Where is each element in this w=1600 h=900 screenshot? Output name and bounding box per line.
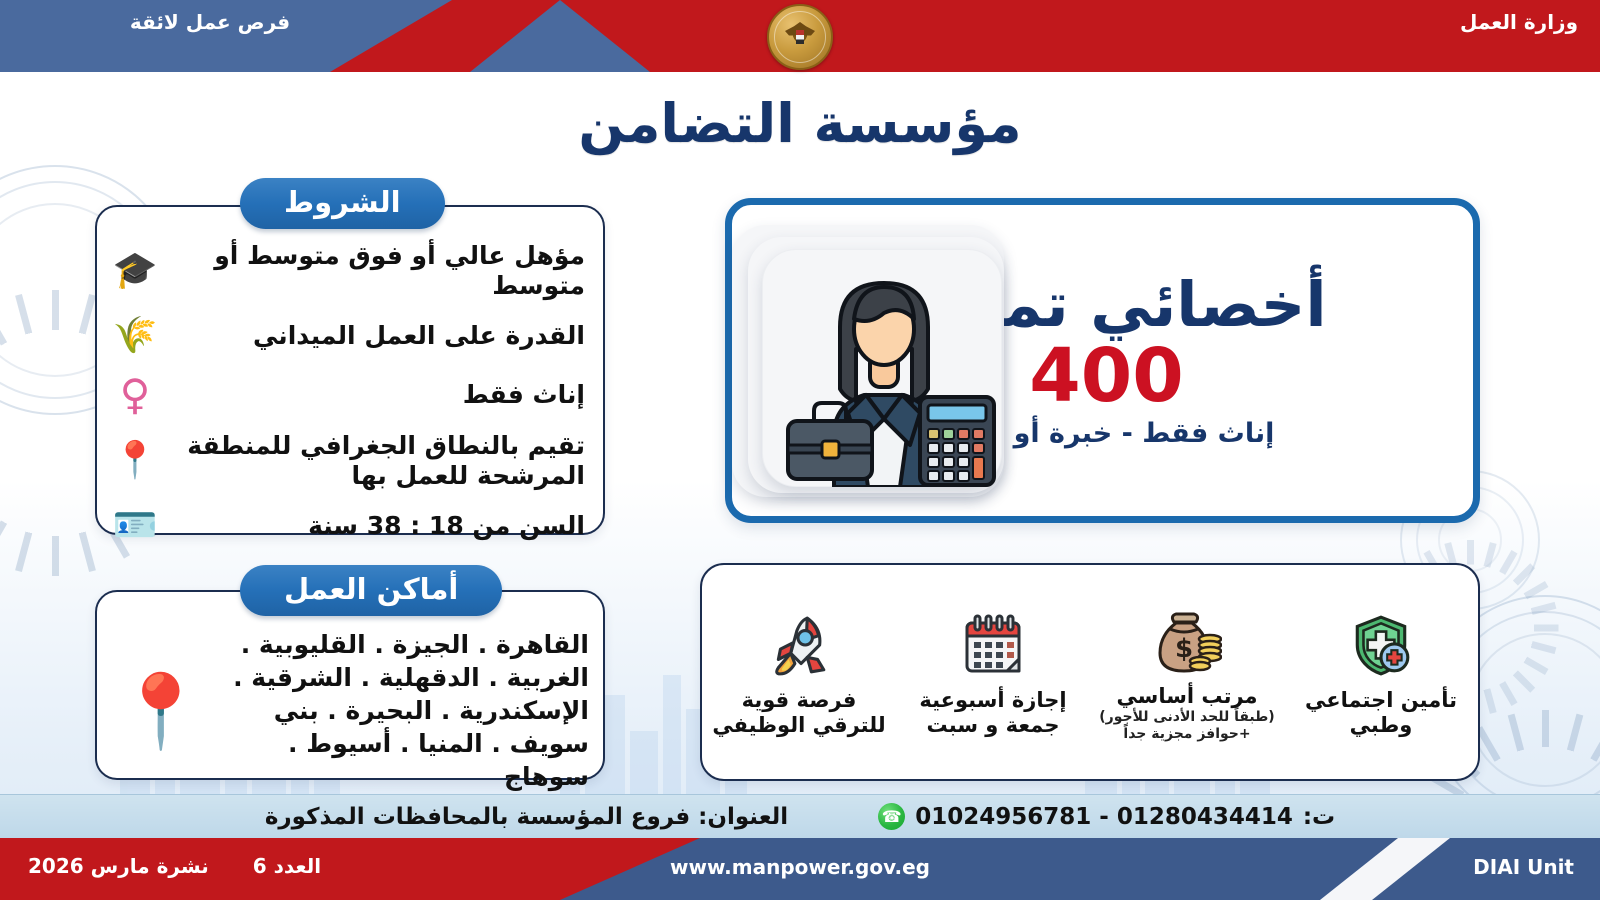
conditions-card: مؤهل عالي أو فوق متوسط أو متوسط 🎓 القدرة… xyxy=(95,205,605,535)
condition-label: السن من 18 : 38 سنة xyxy=(173,511,585,541)
graduation-cap-icon: 🎓 xyxy=(111,248,159,294)
businesswoman-with-calculator-icon xyxy=(722,225,1022,510)
condition-label: مؤهل عالي أو فوق متوسط أو متوسط xyxy=(173,241,585,300)
avatar-illustration xyxy=(762,249,1002,487)
locations-content: القاهرة . الجيزة . القليوبية . الغربية .… xyxy=(97,592,603,803)
header-tagline: فرص عمل لائقة xyxy=(0,10,420,34)
farm-field-icon: 🌾 xyxy=(111,313,159,359)
conditions-list: مؤهل عالي أو فوق متوسط أو متوسط 🎓 القدرة… xyxy=(97,207,603,559)
benefit-label: إجازة أسبوعيةجمعة و سبت xyxy=(900,688,1086,738)
benefits-row: تأمين اجتماعيوطبي $ xyxy=(702,565,1478,779)
benefit-label: مرتب أساسي xyxy=(1094,684,1280,709)
money-bag-icon: $ xyxy=(1094,604,1280,678)
ministry-of-labour-emblem xyxy=(767,4,833,70)
condition-item: تقيم بالنطاق الجغرافي للمنطقة المرشحة لل… xyxy=(111,431,585,490)
benefit-label: فرصة قويةللترقي الوظيفي xyxy=(706,688,892,738)
locations-heading: أماكن العمل xyxy=(240,565,502,616)
condition-label: تقيم بالنطاق الجغرافي للمنطقة المرشحة لل… xyxy=(173,431,585,490)
benefit-label: تأمين اجتماعيوطبي xyxy=(1288,688,1474,738)
condition-item: السن من 18 : 38 سنة 🪪 xyxy=(111,503,585,549)
footer-left-block: العدد 6 نشرة مارس 2026 xyxy=(28,854,321,878)
conditions-heading: الشروط xyxy=(240,178,445,229)
medical-shield-icon xyxy=(1288,608,1474,682)
female-sign-icon: ♀ xyxy=(111,372,159,418)
map-pin-icon: 📍 xyxy=(111,438,159,484)
contact-phone-block[interactable]: ت: 01280434414 - 01024956781 ☎ xyxy=(878,803,1335,830)
ministry-label: وزارة العمل xyxy=(1460,10,1578,34)
condition-item: مؤهل عالي أو فوق متوسط أو متوسط 🎓 xyxy=(111,241,585,300)
page-title: مؤسسة التضامن xyxy=(0,92,1600,155)
condition-item: إناث فقط ♀ xyxy=(111,372,585,418)
job-highlight-card: أخصائي تمويل 400 إناث فقط - خبرة أو بدون xyxy=(725,198,1480,523)
contact-phone-numbers: 01280434414 - 01024956781 xyxy=(915,804,1293,830)
location-pin-icon: 📍 xyxy=(111,675,211,747)
contact-address: العنوان: فروع المؤسسة بالمحافظات المذكور… xyxy=(265,804,788,830)
id-card-icon: 🪪 xyxy=(111,503,159,549)
benefits-card: تأمين اجتماعيوطبي $ xyxy=(700,563,1480,781)
footer-unit: DIAI Unit xyxy=(1473,855,1574,879)
benefit-item-weekend: إجازة أسبوعيةجمعة و سبت xyxy=(896,598,1090,746)
page-footer: www.manpower.gov.eg العدد 6 نشرة مارس 20… xyxy=(0,838,1600,900)
footer-bulletin: نشرة مارس 2026 xyxy=(28,854,209,878)
footer-issue: العدد 6 xyxy=(253,854,321,878)
calendar-icon xyxy=(900,608,1086,682)
benefit-item-promotion: فرصة قويةللترقي الوظيفي xyxy=(702,598,896,746)
contact-bar: ت: 01280434414 - 01024956781 ☎ العنوان: … xyxy=(0,794,1600,838)
condition-label: إناث فقط xyxy=(173,380,585,410)
condition-item: القدرة على العمل الميداني 🌾 xyxy=(111,313,585,359)
benefit-sublabel: (طبقاً للحد الأدنى للأجور)+حوافز مجزية ج… xyxy=(1094,709,1280,742)
locations-card: القاهرة . الجيزة . القليوبية . الغربية .… xyxy=(95,590,605,780)
condition-label: القدرة على العمل الميداني xyxy=(173,321,585,351)
whatsapp-icon[interactable]: ☎ xyxy=(878,803,905,830)
rocket-icon xyxy=(706,608,892,682)
locations-label: القاهرة . الجيزة . القليوبية . الغربية .… xyxy=(221,628,589,793)
benefit-item-insurance: تأمين اجتماعيوطبي xyxy=(1284,598,1478,746)
benefit-item-salary: $ مرتب أساسي (طبقاً للحد الأدنى للأجور)+… xyxy=(1090,594,1284,750)
contact-phone-prefix: ت: xyxy=(1303,804,1335,830)
